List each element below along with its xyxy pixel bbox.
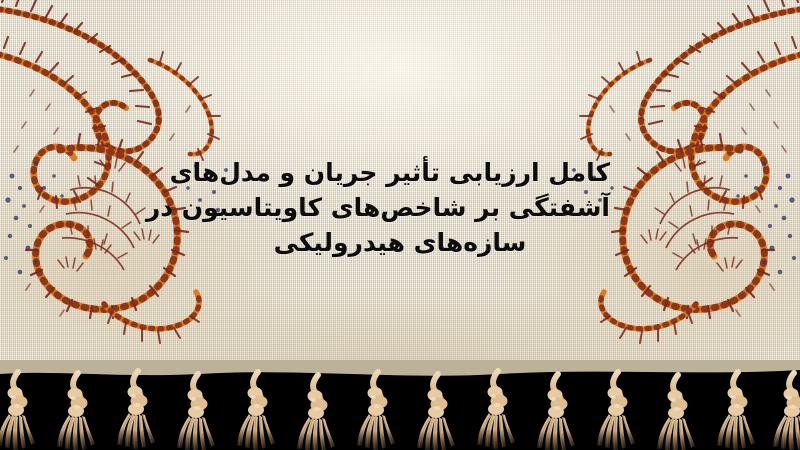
tassel-fringe-border bbox=[0, 360, 800, 450]
slide-title: کامل ارزیابی تأثیر جریان و مدل‌های آشفتگ… bbox=[190, 155, 610, 260]
title-card-slide: کامل ارزیابی تأثیر جریان و مدل‌های آشفتگ… bbox=[0, 0, 800, 450]
title-line-2: آشفتگی بر شاخص‌های کاویتاسیون در bbox=[190, 190, 610, 225]
title-line-3: سازه‌های هیدرولیکی bbox=[190, 225, 610, 260]
title-line-1: کامل ارزیابی تأثیر جریان و مدل‌های bbox=[190, 155, 610, 190]
